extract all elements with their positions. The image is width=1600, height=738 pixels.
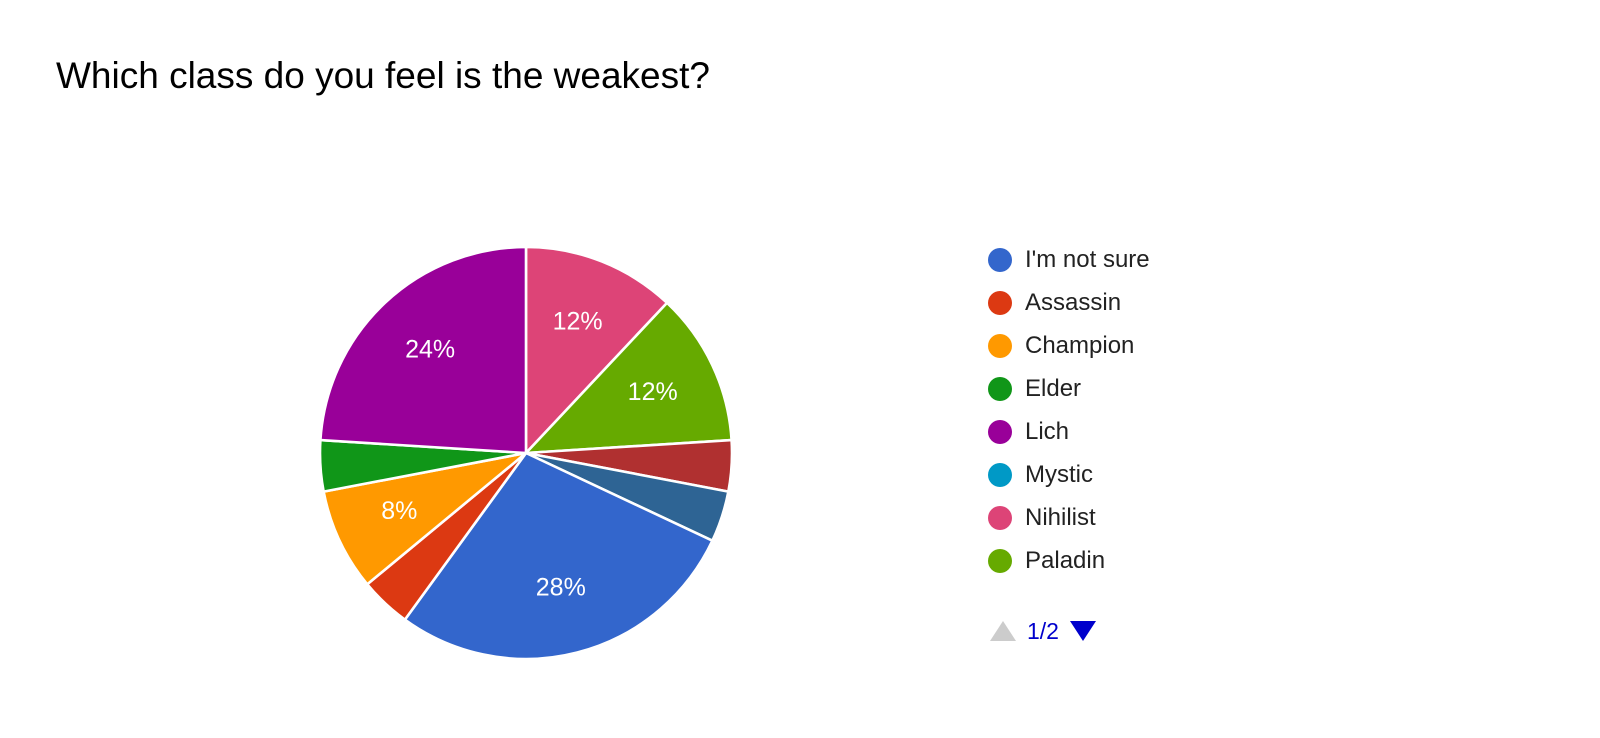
legend-item-mystic[interactable]: Mystic xyxy=(988,453,1308,496)
legend-item-label: Paladin xyxy=(1025,549,1105,573)
legend-item-lich[interactable]: Lich xyxy=(988,410,1308,453)
legend-item-label: Assassin xyxy=(1025,291,1121,315)
page-title: Which class do you feel is the weakest? xyxy=(56,56,710,97)
legend-item-label: Champion xyxy=(1025,334,1134,358)
legend-item-paladin[interactable]: Paladin xyxy=(988,539,1308,582)
legend-item-label: Elder xyxy=(1025,377,1081,401)
legend-item-i-m-not-sure[interactable]: I'm not sure xyxy=(988,238,1308,281)
pie-slice-label: 28% xyxy=(536,573,586,601)
legend-dot-icon xyxy=(988,377,1012,401)
legend-item-label: I'm not sure xyxy=(1025,248,1150,272)
legend-item-label: Mystic xyxy=(1025,463,1093,487)
pie-slice-label: 24% xyxy=(405,336,455,364)
pager-count-label: 1/2 xyxy=(1027,620,1059,643)
legend-pager: 1/2 xyxy=(990,614,1096,648)
legend-dot-icon xyxy=(988,506,1012,530)
legend-item-elder[interactable]: Elder xyxy=(988,367,1308,410)
pie-slice-label: 8% xyxy=(381,497,417,525)
legend-dot-icon xyxy=(988,420,1012,444)
pie-chart: 12%12%28%8%24% xyxy=(320,247,732,659)
legend-dot-icon xyxy=(988,248,1012,272)
legend-dot-icon xyxy=(988,334,1012,358)
legend-item-label: Nihilist xyxy=(1025,506,1096,530)
pie-slice-label: 12% xyxy=(553,307,603,335)
triangle-up-icon[interactable] xyxy=(990,621,1016,641)
triangle-down-icon[interactable] xyxy=(1070,621,1096,641)
legend-dot-icon xyxy=(988,463,1012,487)
legend-item-label: Lich xyxy=(1025,420,1069,444)
legend-item-champion[interactable]: Champion xyxy=(988,324,1308,367)
legend-item-assassin[interactable]: Assassin xyxy=(988,281,1308,324)
legend-dot-icon xyxy=(988,291,1012,315)
legend: I'm not sureAssassinChampionElderLichMys… xyxy=(988,238,1308,582)
pie-slice-label: 12% xyxy=(628,378,678,406)
pie-slice-group xyxy=(320,247,732,659)
legend-dot-icon xyxy=(988,549,1012,573)
legend-item-nihilist[interactable]: Nihilist xyxy=(988,496,1308,539)
pie-chart-svg: 12%12%28%8%24% xyxy=(320,247,732,659)
